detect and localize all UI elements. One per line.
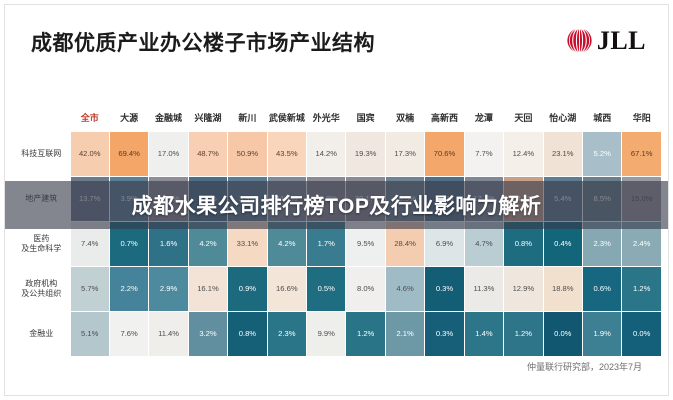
heatmap-cell: 0.5% [307, 267, 346, 312]
heatmap-cell: 2.3% [582, 222, 621, 267]
heatmap-cell: 70.6% [425, 132, 464, 177]
heatmap-cell: 4.7% [464, 222, 503, 267]
heatmap-cell: 4.6% [385, 267, 424, 312]
heatmap-cell: 2.1% [188, 177, 227, 222]
heatmap-cell: 8.5% [582, 177, 621, 222]
heatmap-cell: 42.0% [70, 132, 109, 177]
heatmap-cell: 7.7% [464, 132, 503, 177]
table-row: 政府机构及公共组织5.7%2.2%2.9%16.1%0.9%16.6%0.5%8… [13, 267, 662, 312]
column-header-8: 双楠 [385, 105, 424, 132]
row-label-header [13, 105, 70, 132]
heatmap-cell: 15.0% [622, 177, 662, 222]
table-row: 地产建筑13.7%3.9%26.9%2.1%3.3%11.7%29.8%30.1… [13, 177, 662, 222]
heatmap-cell: 0.0% [543, 312, 582, 357]
jll-logo: JLL [566, 27, 646, 54]
heatmap-cell: 2.1% [425, 177, 464, 222]
heatmap-cell: 2.1% [385, 312, 424, 357]
heatmap-cell: 16.1% [188, 267, 227, 312]
heatmap-cell: 0.0% [622, 312, 662, 357]
column-header-1: 大源 [109, 105, 148, 132]
heatmap-cell: 0.7% [109, 222, 148, 267]
column-header-14: 华阳 [622, 105, 662, 132]
heatmap-cell: 0.8% [504, 222, 543, 267]
row-label-3: 政府机构及公共组织 [13, 267, 70, 312]
heatmap-cell: 5.1% [70, 312, 109, 357]
jll-wordmark: JLL [597, 28, 646, 54]
column-header-10: 龙潭 [464, 105, 503, 132]
heatmap-cell: 19.3% [346, 132, 385, 177]
heatmap-body: 科技互联网42.0%69.4%17.0%48.7%50.9%43.5%14.2%… [13, 132, 662, 357]
heatmap-cell: 1.9% [582, 312, 621, 357]
heatmap-cell: 0.8% [228, 312, 267, 357]
heatmap-cell: 0.3% [425, 312, 464, 357]
table-header-row: 全市大源金融城兴隆湖新川武侯新城外光华国宾双楠高新西龙潭天回怡心湖城西华阳 [13, 105, 662, 132]
heatmap-cell: 0.9% [228, 267, 267, 312]
heatmap-cell: 18.8% [543, 267, 582, 312]
heatmap-cell: 30.1% [346, 177, 385, 222]
column-header-4: 新川 [228, 105, 267, 132]
heatmap-cell: 11.4% [149, 312, 188, 357]
heatmap-cell: 11.7% [267, 177, 306, 222]
heatmap-cell: 1.2% [504, 312, 543, 357]
heatmap-cell: 3.9% [109, 177, 148, 222]
heatmap-cell: 1.6% [149, 222, 188, 267]
heatmap-cell: 5.2% [582, 132, 621, 177]
heatmap-cell: 3.3% [228, 177, 267, 222]
jll-globe-icon [566, 27, 593, 54]
heatmap-cell: 9.5% [346, 222, 385, 267]
row-label-4: 金融业 [13, 312, 70, 357]
heatmap-cell: 48.7% [188, 132, 227, 177]
heatmap-cell: 43.5% [267, 132, 306, 177]
heatmap-cell: 13.7% [70, 177, 109, 222]
table-row: 金融业5.1%7.6%11.4%3.2%0.8%2.3%9.9%1.2%2.1%… [13, 312, 662, 357]
column-header-2: 金融城 [149, 105, 188, 132]
heatmap-cell: 9.9% [307, 312, 346, 357]
heatmap-cell: 33.1% [228, 222, 267, 267]
heatmap-cell: 10.5% [385, 177, 424, 222]
column-header-0: 全市 [70, 105, 109, 132]
column-header-3: 兴隆湖 [188, 105, 227, 132]
chart-card: 成都优质产业办公楼子市场产业结构 JLL 全市大源金融城兴隆湖新川武侯新城外光华… [4, 4, 669, 396]
heatmap-cell: 0.6% [582, 267, 621, 312]
heatmap-cell: 2.2% [109, 267, 148, 312]
heatmap-cell: 54.7% [504, 177, 543, 222]
heatmap-cell: 4.2% [188, 222, 227, 267]
heatmap-cell: 2.4% [622, 222, 662, 267]
heatmap-cell: 1.7% [307, 222, 346, 267]
heatmap-cell: 8.0% [346, 267, 385, 312]
table-row: 科技互联网42.0%69.4%17.0%48.7%50.9%43.5%14.2%… [13, 132, 662, 177]
heatmap-cell: 1.2% [622, 267, 662, 312]
heatmap-cell: 0.4% [543, 222, 582, 267]
heatmap-table-wrapper: 全市大源金融城兴隆湖新川武侯新城外光华国宾双楠高新西龙潭天回怡心湖城西华阳 科技… [13, 105, 662, 357]
column-header-5: 武侯新城 [267, 105, 306, 132]
heatmap-cell: 23.1% [543, 132, 582, 177]
heatmap-cell: 5.7% [70, 267, 109, 312]
heatmap-cell: 17.1% [464, 177, 503, 222]
heatmap-cell: 0.3% [425, 267, 464, 312]
row-label-0: 科技互联网 [13, 132, 70, 177]
heatmap-cell: 26.9% [149, 177, 188, 222]
heatmap-cell: 17.0% [149, 132, 188, 177]
heatmap-cell: 17.3% [385, 132, 424, 177]
industry-structure-heatmap: 全市大源金融城兴隆湖新川武侯新城外光华国宾双楠高新西龙潭天回怡心湖城西华阳 科技… [13, 105, 662, 357]
heatmap-cell: 2.3% [267, 312, 306, 357]
column-header-9: 高新西 [425, 105, 464, 132]
heatmap-cell: 4.2% [267, 222, 306, 267]
heatmap-cell: 7.4% [70, 222, 109, 267]
heatmap-cell: 12.4% [504, 132, 543, 177]
heatmap-cell: 16.6% [267, 267, 306, 312]
row-label-2: 医药及生命科学 [13, 222, 70, 267]
heatmap-cell: 2.9% [149, 267, 188, 312]
heatmap-cell: 5.4% [543, 177, 582, 222]
heatmap-cell: 11.3% [464, 267, 503, 312]
heatmap-cell: 14.2% [307, 132, 346, 177]
heatmap-cell: 3.2% [188, 312, 227, 357]
heatmap-cell: 7.6% [109, 312, 148, 357]
heatmap-cell: 6.9% [425, 222, 464, 267]
heatmap-cell: 50.9% [228, 132, 267, 177]
column-header-13: 城西 [582, 105, 621, 132]
row-label-1: 地产建筑 [13, 177, 70, 222]
page-title: 成都优质产业办公楼子市场产业结构 [31, 27, 375, 57]
chart-header: 成都优质产业办公楼子市场产业结构 JLL [5, 5, 668, 77]
column-header-6: 外光华 [307, 105, 346, 132]
heatmap-cell: 28.4% [385, 222, 424, 267]
heatmap-cell: 67.1% [622, 132, 662, 177]
table-row: 医药及生命科学7.4%0.7%1.6%4.2%33.1%4.2%1.7%9.5%… [13, 222, 662, 267]
source-note: 仲量联行研究部，2023年7月 [527, 360, 642, 373]
heatmap-cell: 1.4% [464, 312, 503, 357]
column-header-7: 国宾 [346, 105, 385, 132]
heatmap-cell: 69.4% [109, 132, 148, 177]
heatmap-cell: 12.9% [504, 267, 543, 312]
heatmap-cell: 1.2% [346, 312, 385, 357]
column-header-11: 天回 [504, 105, 543, 132]
column-header-12: 怡心湖 [543, 105, 582, 132]
heatmap-header-row: 全市大源金融城兴隆湖新川武侯新城外光华国宾双楠高新西龙潭天回怡心湖城西华阳 [13, 105, 662, 132]
heatmap-cell: 29.8% [307, 177, 346, 222]
